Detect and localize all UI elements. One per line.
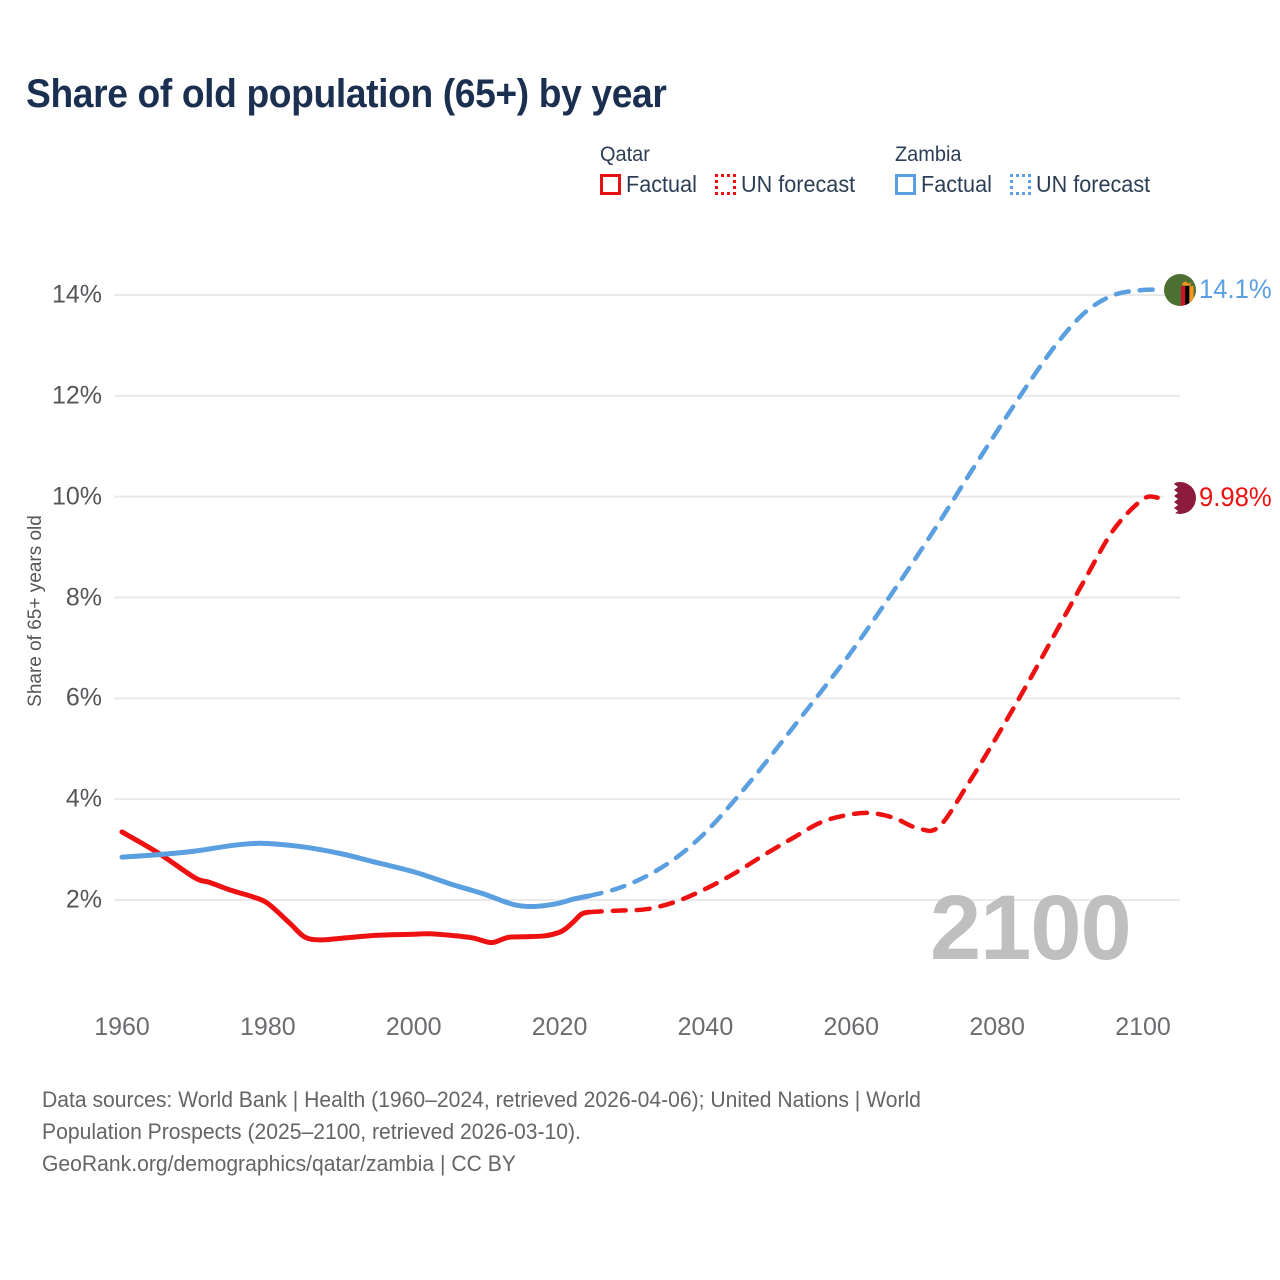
x-tick-2040: 2040 [645, 1013, 765, 1042]
x-tick-2020: 2020 [500, 1013, 620, 1042]
qatar-endpoint-value: 9.98% [1199, 482, 1272, 513]
y-tick-2: 2% [12, 886, 102, 915]
zambia-flag-icon [1164, 274, 1196, 306]
x-tick-2100: 2100 [1083, 1013, 1203, 1042]
chart-page: Share of old population (65+) by year Qa… [0, 0, 1280, 1280]
footer-line-2: Population Prospects (2025–2100, retriev… [42, 1116, 1175, 1148]
plot-area: Share of 65+ years old 2%4%6%8%10%12%14%… [0, 0, 1280, 1060]
footer-line-1: Data sources: World Bank | Health (1960–… [42, 1084, 1175, 1116]
series-zambia-un-forecast [589, 290, 1158, 896]
y-tick-6: 6% [12, 684, 102, 713]
x-tick-2080: 2080 [937, 1013, 1057, 1042]
x-tick-1980: 1980 [208, 1013, 328, 1042]
y-tick-10: 10% [12, 482, 102, 511]
x-tick-1960: 1960 [62, 1013, 182, 1042]
gridlines [114, 295, 1180, 900]
series-lines [122, 290, 1158, 943]
y-tick-12: 12% [12, 381, 102, 410]
zambia-endpoint-value: 14.1% [1199, 274, 1272, 305]
footer-sources: Data sources: World Bank | Health (1960–… [42, 1084, 1222, 1180]
qatar-endpoint: 9.98% [1164, 482, 1276, 514]
x-tick-2000: 2000 [354, 1013, 474, 1042]
y-tick-4: 4% [12, 785, 102, 814]
series-qatar-un-forecast [589, 496, 1158, 912]
footer-line-3: GeoRank.org/demographics/qatar/zambia | … [42, 1148, 1175, 1180]
qatar-flag-icon [1164, 482, 1196, 514]
year-watermark: 2100 [930, 882, 1131, 974]
y-tick-14: 14% [12, 281, 102, 310]
y-tick-8: 8% [12, 583, 102, 612]
zambia-endpoint: 14.1% [1164, 274, 1276, 306]
x-tick-2060: 2060 [791, 1013, 911, 1042]
series-qatar-factual [122, 832, 589, 943]
